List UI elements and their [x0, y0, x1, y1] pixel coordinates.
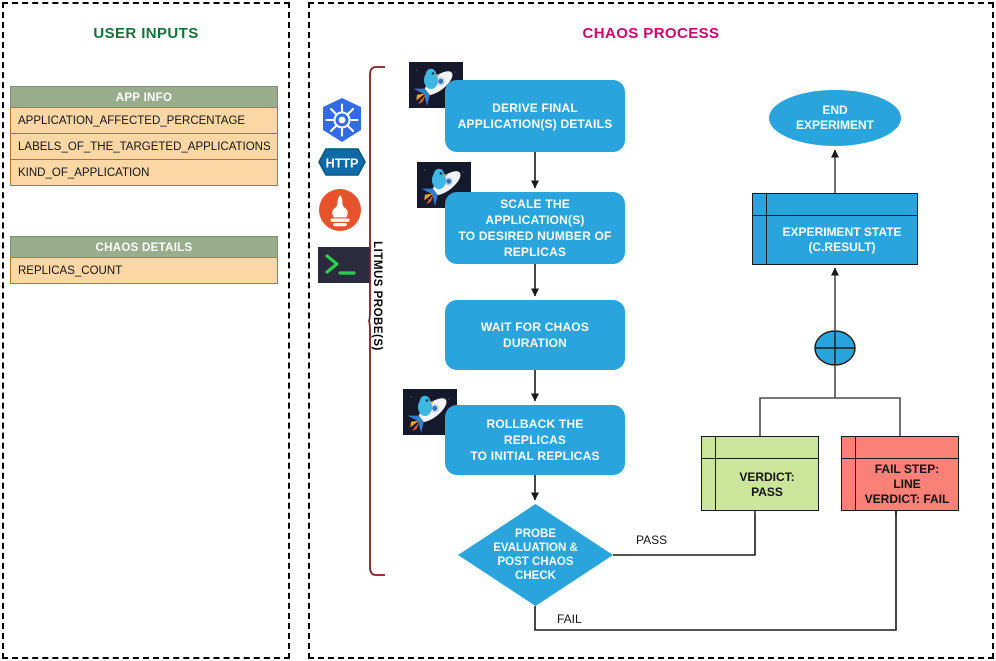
step-rollback-the-replicas[interactable]: ROLLBACK THE REPLICAS TO INITIAL REPLICA…: [445, 405, 625, 475]
table-header-chaos-details: CHAOS DETAILS: [10, 236, 278, 258]
verdict-fail-left-column: [842, 437, 856, 510]
verdict-fail-header: [842, 437, 958, 459]
step-label: DERIVE FINAL APPLICATION(S) DETAILS: [458, 100, 613, 132]
app-info-table: APP INFO APPLICATION_AFFECTED_PERCENTAGE…: [10, 86, 278, 186]
table-row: KIND_OF_APPLICATION: [10, 160, 278, 186]
table-row: REPLICAS_COUNT: [10, 258, 278, 284]
step-label: ROLLBACK THE REPLICAS TO INITIAL REPLICA…: [455, 416, 615, 464]
prometheus-icon: [318, 188, 362, 232]
decision-probe-evaluation[interactable]: [458, 504, 613, 606]
step-label: WAIT FOR CHAOS DURATION: [455, 319, 615, 351]
step-scale-the-applications[interactable]: SCALE THE APPLICATION(S) TO DESIRED NUMB…: [445, 192, 625, 264]
http-icon: HTTP: [318, 148, 366, 176]
user-inputs-panel: USER INPUTS APP INFO APPLICATION_AFFECTE…: [2, 2, 290, 659]
table-row: LABELS_OF_THE_TARGETED_APPLICATIONS: [10, 134, 278, 160]
step-wait-for-chaos-duration[interactable]: WAIT FOR CHAOS DURATION: [445, 300, 625, 370]
end-experiment-label: END EXPERIMENT: [796, 103, 874, 133]
verdict-pass-label: VERDICT: PASS: [716, 459, 818, 510]
experiment-state-label: EXPERIMENT STATE (C.RESULT): [767, 216, 917, 264]
cli-terminal-icon: [318, 247, 370, 283]
page-title-user-inputs: USER INPUTS: [4, 25, 288, 42]
edge-label-pass: PASS: [636, 533, 667, 547]
edge-label-fail: FAIL: [557, 612, 582, 626]
verdict-pass-box[interactable]: VERDICT: PASS: [701, 436, 819, 511]
experiment-state-header: [753, 194, 917, 216]
step-derive-final-application-details[interactable]: DERIVE FINAL APPLICATION(S) DETAILS: [445, 80, 625, 152]
http-icon-label: HTTP: [326, 157, 359, 171]
verdict-pass-header: [702, 437, 818, 459]
step-label: SCALE THE APPLICATION(S) TO DESIRED NUMB…: [455, 196, 615, 260]
verdict-fail-label: FAIL STEP: LINE VERDICT: FAIL: [856, 459, 958, 510]
end-experiment-node[interactable]: END EXPERIMENT: [769, 90, 901, 146]
table-header-app-info: APP INFO: [10, 86, 278, 108]
experiment-state-left-column: [753, 194, 767, 264]
chaos-details-table: CHAOS DETAILS REPLICAS_COUNT: [10, 236, 278, 284]
verdict-pass-left-column: [702, 437, 716, 510]
page-title-chaos-process: CHAOS PROCESS: [310, 25, 992, 42]
table-row: APPLICATION_AFFECTED_PERCENTAGE: [10, 108, 278, 134]
verdict-fail-box[interactable]: FAIL STEP: LINE VERDICT: FAIL: [841, 436, 959, 511]
merge-node-icon: [814, 330, 856, 366]
experiment-state-box[interactable]: EXPERIMENT STATE (C.RESULT): [752, 193, 918, 265]
kubernetes-icon: [318, 96, 366, 144]
litmus-probe-group-label: LITMUS PROBE(S): [371, 236, 383, 356]
